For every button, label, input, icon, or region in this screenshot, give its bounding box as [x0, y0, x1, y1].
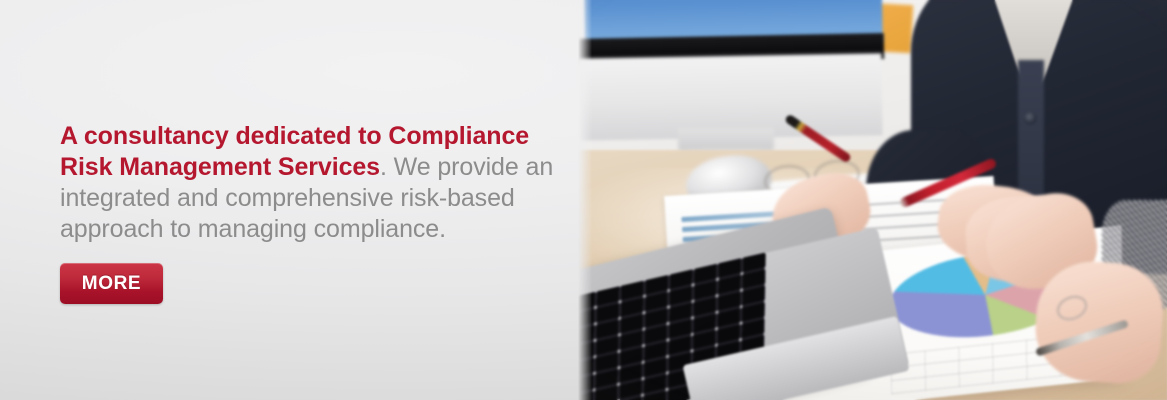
page-title: A consultancy dedicated to Compliance Ri… [60, 121, 565, 245]
headline-accent-line-1: A consultancy dedicated to Compliance [60, 122, 529, 150]
photo-scene [566, 0, 1167, 400]
hero-banner: A consultancy dedicated to Compliance Ri… [0, 0, 1167, 400]
bar-chart-bar [681, 211, 785, 222]
headline-accent-line-2: Risk Management Services [60, 153, 380, 181]
hand-lower-right [1032, 258, 1166, 386]
hero-copy: A consultancy dedicated to Compliance Ri… [60, 121, 565, 245]
more-button[interactable]: MORE [60, 263, 163, 304]
cardigan-button-icon [1024, 112, 1037, 125]
hero-photo [566, 0, 1167, 400]
